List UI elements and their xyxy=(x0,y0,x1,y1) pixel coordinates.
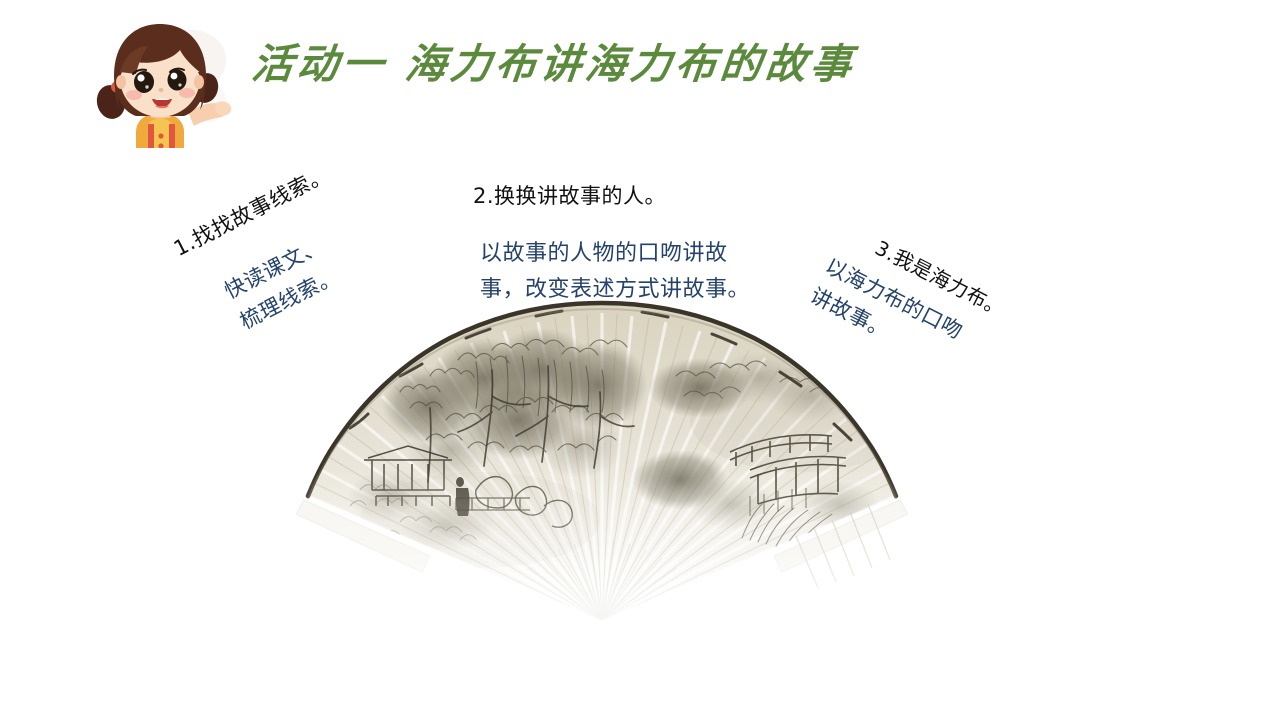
cartoon-girl-illustration-icon xyxy=(84,16,236,148)
chinese-folding-fan-painting-icon xyxy=(280,300,925,650)
page-title: 活动一 海力布讲海力布的故事 xyxy=(250,44,858,85)
step-2-heading: 2.换换讲故事的人。 xyxy=(473,180,666,210)
step-2-body-line: 以故事的人物的口吻讲故 xyxy=(480,236,800,272)
step-2-body: 以故事的人物的口吻讲故 事，改变表述方式讲故事。 xyxy=(480,236,800,308)
slide-header: 活动一 海力布讲海力布的故事 xyxy=(0,0,1280,160)
